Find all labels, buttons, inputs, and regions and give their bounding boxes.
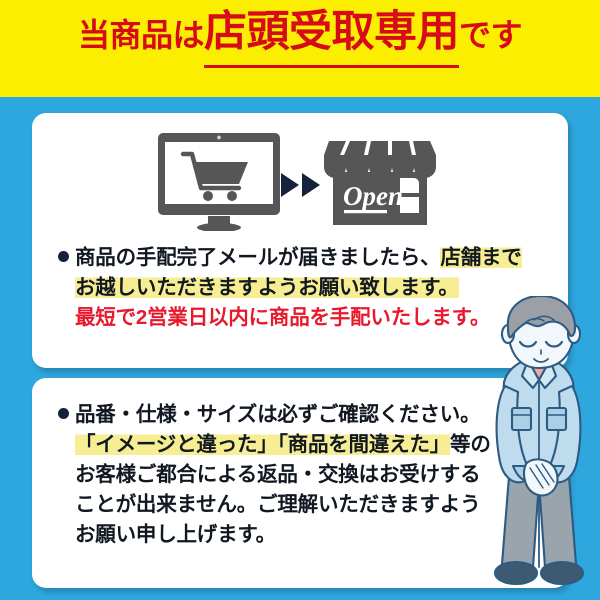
- card-two-line-3: お客様ご都合による返品・交換はお受けする: [58, 460, 491, 490]
- bullet-icon: [58, 251, 69, 262]
- card-two-line-2b: 等の: [450, 433, 491, 456]
- card-two-line-5: お願い申し上げます。: [58, 520, 491, 550]
- monitor-shopping-cart-icon: [156, 131, 282, 231]
- bowing-staff-illustration: [486, 296, 600, 600]
- card-two-line-4: ことが出来ません。ご理解いただきますよう: [58, 490, 491, 520]
- card-two-line-1: 品番・仕様・サイズは必ずご確認ください。: [58, 400, 491, 430]
- store-open-label: Open: [343, 181, 403, 211]
- bullet-icon: [58, 408, 69, 419]
- card-one-line-1a: 商品の手配完了メールが届きましたら、: [75, 246, 440, 269]
- card-two-line-1-label: 品番・仕様・サイズは必ずご確認ください。: [75, 403, 480, 426]
- card-one-text: 商品の手配完了メールが届きましたら、店舗まで お越しいただきますようお願い致しま…: [58, 243, 522, 333]
- card-one-line-3: 最短で2営業日以内に商品を手配いたします。: [58, 303, 522, 333]
- header-band: 当商品は店頭受取専用です: [0, 0, 600, 97]
- headline-trail: です: [459, 17, 522, 53]
- card-one-line-2: お越しいただきますようお願い致します。: [58, 273, 522, 303]
- headline-emphasis: 店頭受取専用: [204, 8, 459, 68]
- double-arrow-right-icon: [280, 172, 322, 198]
- icon-row: Open: [32, 127, 568, 235]
- page-title: 当商品は店頭受取専用です: [0, 11, 600, 54]
- headline-lead: 当商品は: [78, 17, 204, 53]
- notice-banner: 当商品は店頭受取専用です: [0, 0, 600, 600]
- card-one-line-1: 商品の手配完了メールが届きましたら、店舗まで: [58, 243, 522, 273]
- card-one-line-2-highlight: お越しいただきますようお願い致します。: [75, 276, 459, 299]
- storefront-open-icon: Open: [324, 133, 444, 233]
- card-one-line-1b-highlight: 店舗まで: [440, 246, 521, 269]
- card-two-text: 品番・仕様・サイズは必ずご確認ください。 「イメージと違った」「商品を間違えた」…: [58, 400, 491, 550]
- card-two-line-2: 「イメージと違った」「商品を間違えた」等の: [58, 430, 491, 460]
- card-two-line-2a-highlight: 「イメージと違った」「商品を間違えた」: [75, 433, 450, 456]
